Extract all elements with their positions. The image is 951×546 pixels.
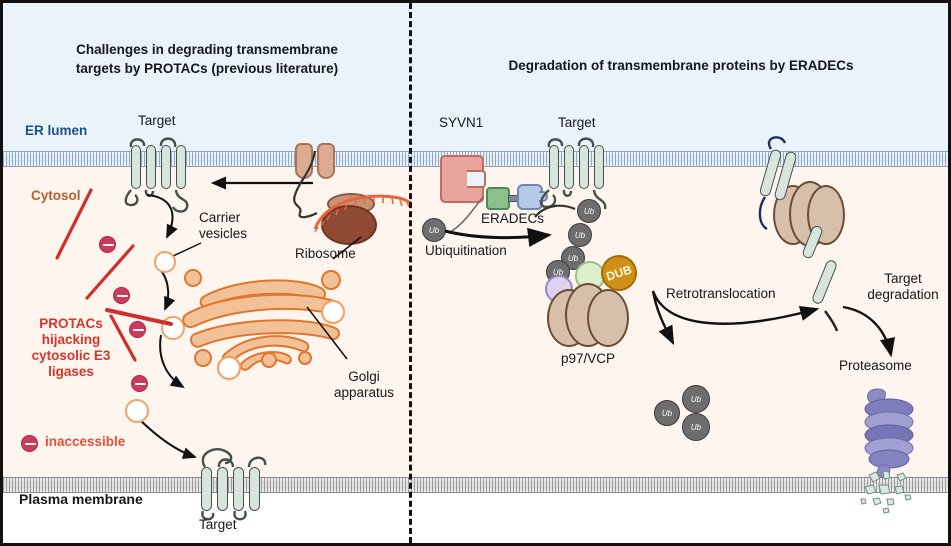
left-title-line2: targets by PROTACs (previous literature) <box>27 60 387 79</box>
degraded-peptide-fragments <box>853 463 937 517</box>
ub-free-2: Ub <box>682 385 710 413</box>
syvn1-binding-notch <box>467 170 486 188</box>
right-panel-title: Degradation of transmembrane proteins by… <box>435 57 927 76</box>
target-degradation-line1: Target <box>855 271 951 287</box>
stop-badge-1 <box>99 236 116 253</box>
plasma-membrane-label: Plasma membrane <box>19 491 143 507</box>
stop-badge-4 <box>131 375 148 392</box>
protac-line2: hijacking <box>13 332 129 348</box>
vcp-lobe-3 <box>587 289 629 347</box>
left-title-line1: Challenges in degrading transmembrane <box>27 41 387 60</box>
syvn1-label: SYVN1 <box>439 115 483 131</box>
stop-badge-3 <box>129 321 146 338</box>
ub-chain-2: Ub <box>568 223 592 247</box>
protac-hijacking-label: PROTACs hijacking cytosolic E3 ligases <box>13 316 129 380</box>
ub-chain-1: Ub <box>577 199 601 223</box>
ubiquitination-label: Ubiquitination <box>425 243 507 259</box>
legend-inaccessible-label: inaccessible <box>45 434 125 449</box>
legend-stop-badge <box>21 435 38 452</box>
protac-line3: cytosolic E3 <box>13 348 129 364</box>
plasma-membrane-bilayer <box>3 477 948 493</box>
golgi-leader-line <box>303 303 359 367</box>
golgi-label: Golgi apparatus <box>321 369 407 402</box>
target-degradation-label: Target degradation <box>855 271 951 304</box>
extracellular-space <box>3 490 948 543</box>
ub-free-3: Ub <box>682 413 710 441</box>
figure-canvas: Challenges in degrading transmembrane ta… <box>0 0 951 546</box>
target-degradation-line2: degradation <box>855 287 951 303</box>
protac-line1: PROTACs <box>13 316 129 332</box>
golgi-line1: Golgi <box>321 369 407 385</box>
proteasome-complex <box>859 385 931 485</box>
left-panel-title: Challenges in degrading transmembrane ta… <box>27 41 387 78</box>
panel-divider <box>409 3 412 543</box>
p97-vcp-label: p97/VCP <box>561 351 615 367</box>
proteasome-label: Proteasome <box>839 358 912 374</box>
er-lumen-label: ER lumen <box>25 123 87 138</box>
protac-line4: ligases <box>13 364 129 380</box>
target-pm-label: Target <box>199 517 237 533</box>
target-right-label: Target <box>558 115 596 131</box>
target-er-label: Target <box>138 113 176 129</box>
ub-free-1: Ub <box>654 400 680 426</box>
golgi-line2: apparatus <box>321 385 407 401</box>
stop-badge-2 <box>113 287 130 304</box>
